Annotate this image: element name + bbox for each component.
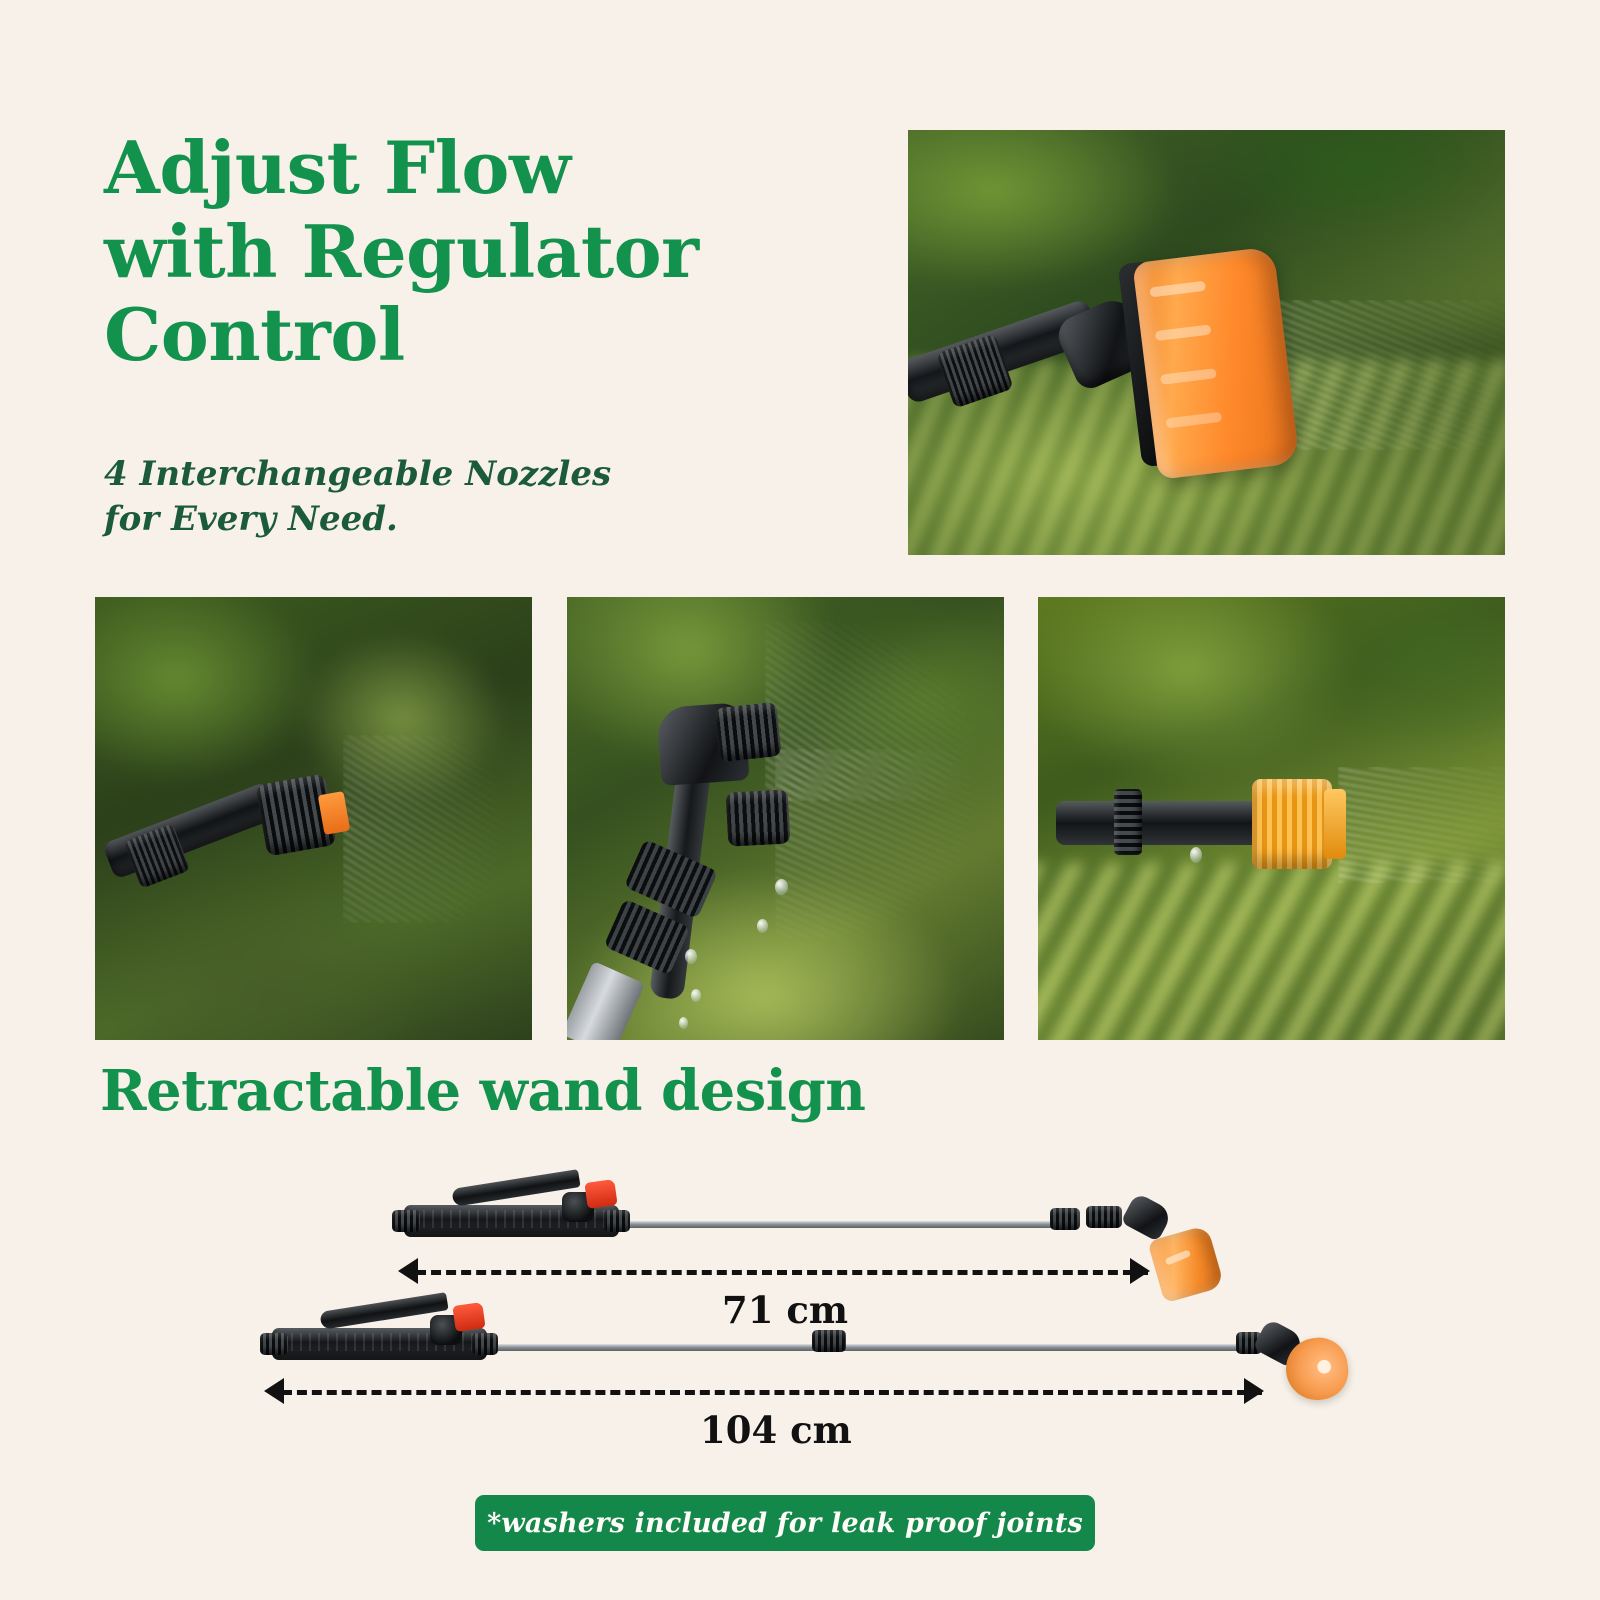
dimension-label-104: 104 cm bbox=[700, 1408, 852, 1452]
subtitle-line-1: 4 Interchangeable Nozzles bbox=[104, 452, 744, 497]
dim-arrow-right-104 bbox=[1244, 1378, 1264, 1404]
dimension-label-71: 71 cm bbox=[722, 1288, 848, 1332]
wand-rod bbox=[480, 1344, 1242, 1351]
sprayer-barrel bbox=[1056, 801, 1276, 845]
dim-arrow-left-71 bbox=[398, 1258, 418, 1284]
palm-frond-blur bbox=[1038, 863, 1505, 1040]
lock-button bbox=[584, 1179, 617, 1209]
orange-shower-head bbox=[1132, 246, 1300, 480]
hero-product-photo bbox=[908, 130, 1505, 555]
rod-collar bbox=[472, 1333, 498, 1355]
dimension-line-71 bbox=[416, 1270, 1148, 1275]
head-coupler bbox=[1086, 1206, 1122, 1228]
lower-nozzle-nut bbox=[726, 789, 791, 846]
lock-button bbox=[452, 1302, 485, 1332]
water-droplet bbox=[757, 919, 768, 933]
wand-rod bbox=[615, 1221, 1067, 1228]
head-elbow bbox=[1120, 1192, 1173, 1242]
upper-nozzle-nut bbox=[714, 702, 781, 762]
water-droplet bbox=[1190, 847, 1202, 863]
page-title: Adjust Flow with Regulator Control bbox=[104, 126, 864, 377]
subtitle-line-2: for Every Need. bbox=[104, 497, 744, 542]
nozzle-photo-3 bbox=[1038, 597, 1505, 1040]
grip-end-nut bbox=[392, 1210, 420, 1232]
rod-collar bbox=[604, 1210, 630, 1232]
washers-note-banner: *washers included for leak proof joints bbox=[475, 1495, 1095, 1551]
infographic-canvas: Adjust Flow with Regulator Control 4 Int… bbox=[0, 0, 1600, 1600]
grip-end-nut bbox=[260, 1333, 288, 1355]
yellow-nozzle-head bbox=[1252, 779, 1332, 869]
dim-arrow-left-104 bbox=[264, 1378, 284, 1404]
section-heading: Retractable wand design bbox=[100, 1058, 865, 1124]
headline-line-2: with Regulator bbox=[104, 210, 864, 294]
nozzle-photo-2 bbox=[567, 597, 1004, 1040]
dimension-line-104 bbox=[282, 1390, 1262, 1395]
washers-note-text: *washers included for leak proof joints bbox=[487, 1508, 1083, 1539]
nozzle-photo-1 bbox=[95, 597, 532, 1040]
water-droplet bbox=[775, 879, 788, 895]
headline-line-3: Control bbox=[104, 293, 864, 377]
water-droplet bbox=[691, 989, 701, 1002]
knurled-collar bbox=[1114, 789, 1142, 855]
nozzle-cap bbox=[1324, 789, 1346, 859]
subtitle: 4 Interchangeable Nozzles for Every Need… bbox=[104, 452, 744, 542]
headline-line-1: Adjust Flow bbox=[104, 126, 864, 210]
dim-arrow-right-71 bbox=[1130, 1258, 1150, 1284]
mid-coupler bbox=[1050, 1208, 1080, 1230]
water-droplet bbox=[679, 1017, 688, 1029]
water-droplet bbox=[685, 949, 697, 964]
mid-coupler bbox=[812, 1330, 846, 1352]
